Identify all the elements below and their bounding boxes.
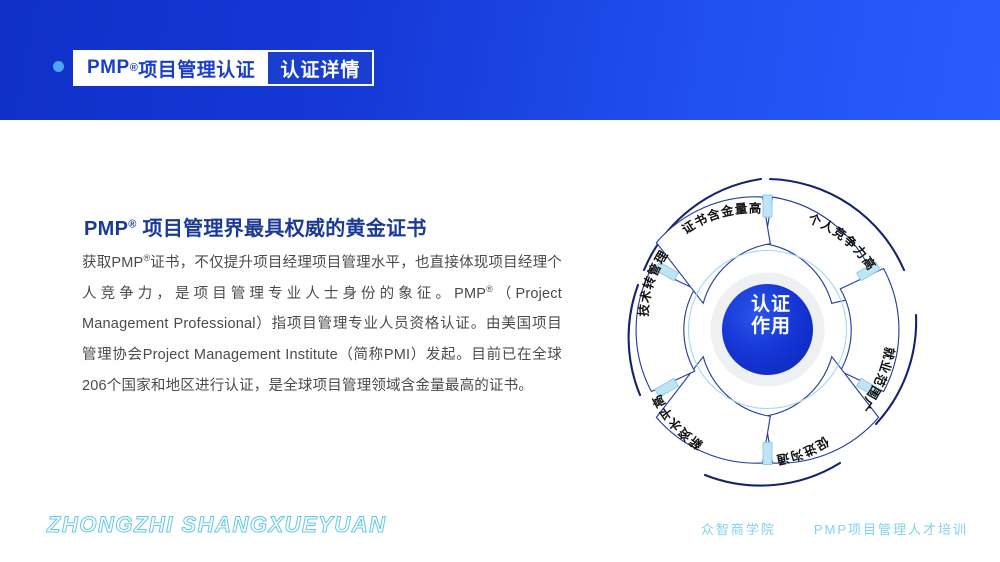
slide-root: PMP® 项目管理认证 认证详情 PMP® 项目管理界最具权威的黄金证书 获取P…: [0, 0, 1000, 562]
section-heading-main: PMP: [84, 218, 128, 240]
section-heading-rest: 项目管理界最具权威的黄金证书: [137, 218, 427, 240]
footer-brand: 众智商学院: [701, 519, 776, 538]
footer-logo: ZHONGZHI SHANGXUEYUAN: [47, 512, 387, 538]
title-badge: PMP® 项目管理认证 认证详情: [73, 50, 374, 86]
gap-marker-bottom: [763, 443, 772, 465]
registered-icon: ®: [130, 62, 139, 74]
gap-marker-top: [763, 195, 772, 217]
section-paragraph: 获取PMP®证书，不仅提升项目经理项目管理水平，也直接体现项目经理个人竞争力，是…: [82, 248, 562, 402]
dot-icon: [53, 61, 64, 72]
paragraph-part-1: 获取PMP: [82, 255, 143, 271]
title-tag: 认证详情: [268, 50, 374, 86]
footer-meta: 众智商学院 PMP项目管理人才培训: [701, 519, 968, 538]
page-title: PMP® 项目管理认证: [73, 50, 268, 86]
certification-benefits-diagram: 个人竞争力高 就业范围广 促进沟通 薪资水平高 技术转管理 证书含金量高 认证 …: [595, 155, 940, 505]
page-title-rest: 项目管理认证: [138, 55, 255, 82]
registered-icon: ®: [128, 218, 136, 230]
footer-tagline: PMP项目管理人才培训: [814, 519, 968, 538]
registered-icon: ®: [486, 284, 493, 294]
section-heading: PMP® 项目管理界最具权威的黄金证书: [84, 212, 427, 241]
page-title-main: PMP: [87, 57, 130, 79]
header-banner: PMP® 项目管理认证 认证详情: [0, 0, 1000, 120]
diagram-svg: 个人竞争力高 就业范围广 促进沟通 薪资水平高 技术转管理 证书含金量高: [595, 155, 940, 505]
center-disc: [722, 284, 813, 375]
paragraph-part-2: 证书，不仅提升项目经理项目管理水平，也直接体现项目经理个人竞争力，是项目管理专业…: [82, 255, 562, 302]
